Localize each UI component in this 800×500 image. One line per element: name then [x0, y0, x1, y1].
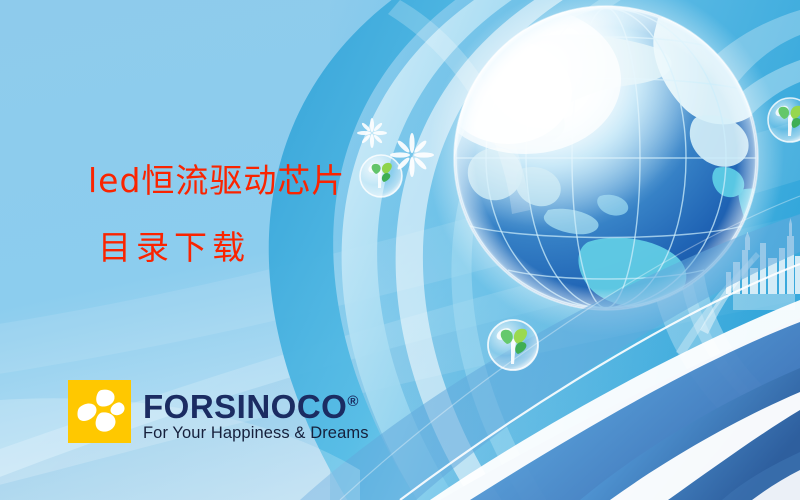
tagline: For Your Happiness & Dreams [143, 424, 369, 443]
wordmark: FORSINOCO® [143, 386, 369, 423]
promo-banner: led恒流驱动芯片 目录下载 FORSINOCO® For Your Happi… [0, 0, 800, 500]
logo-mark-tile [68, 380, 131, 443]
bubble-with-green-sprout-center [488, 320, 538, 370]
bubble-with-green-sprout-left [360, 155, 402, 197]
registered-trademark-mark: ® [347, 393, 358, 410]
brand-logo: FORSINOCO® For Your Happiness & Dreams [68, 380, 369, 443]
wordmark-text: FORSINOCO [143, 388, 347, 425]
four-petal-pinwheel-icon [68, 380, 131, 443]
logo-text-block: FORSINOCO® For Your Happiness & Dreams [143, 380, 369, 443]
